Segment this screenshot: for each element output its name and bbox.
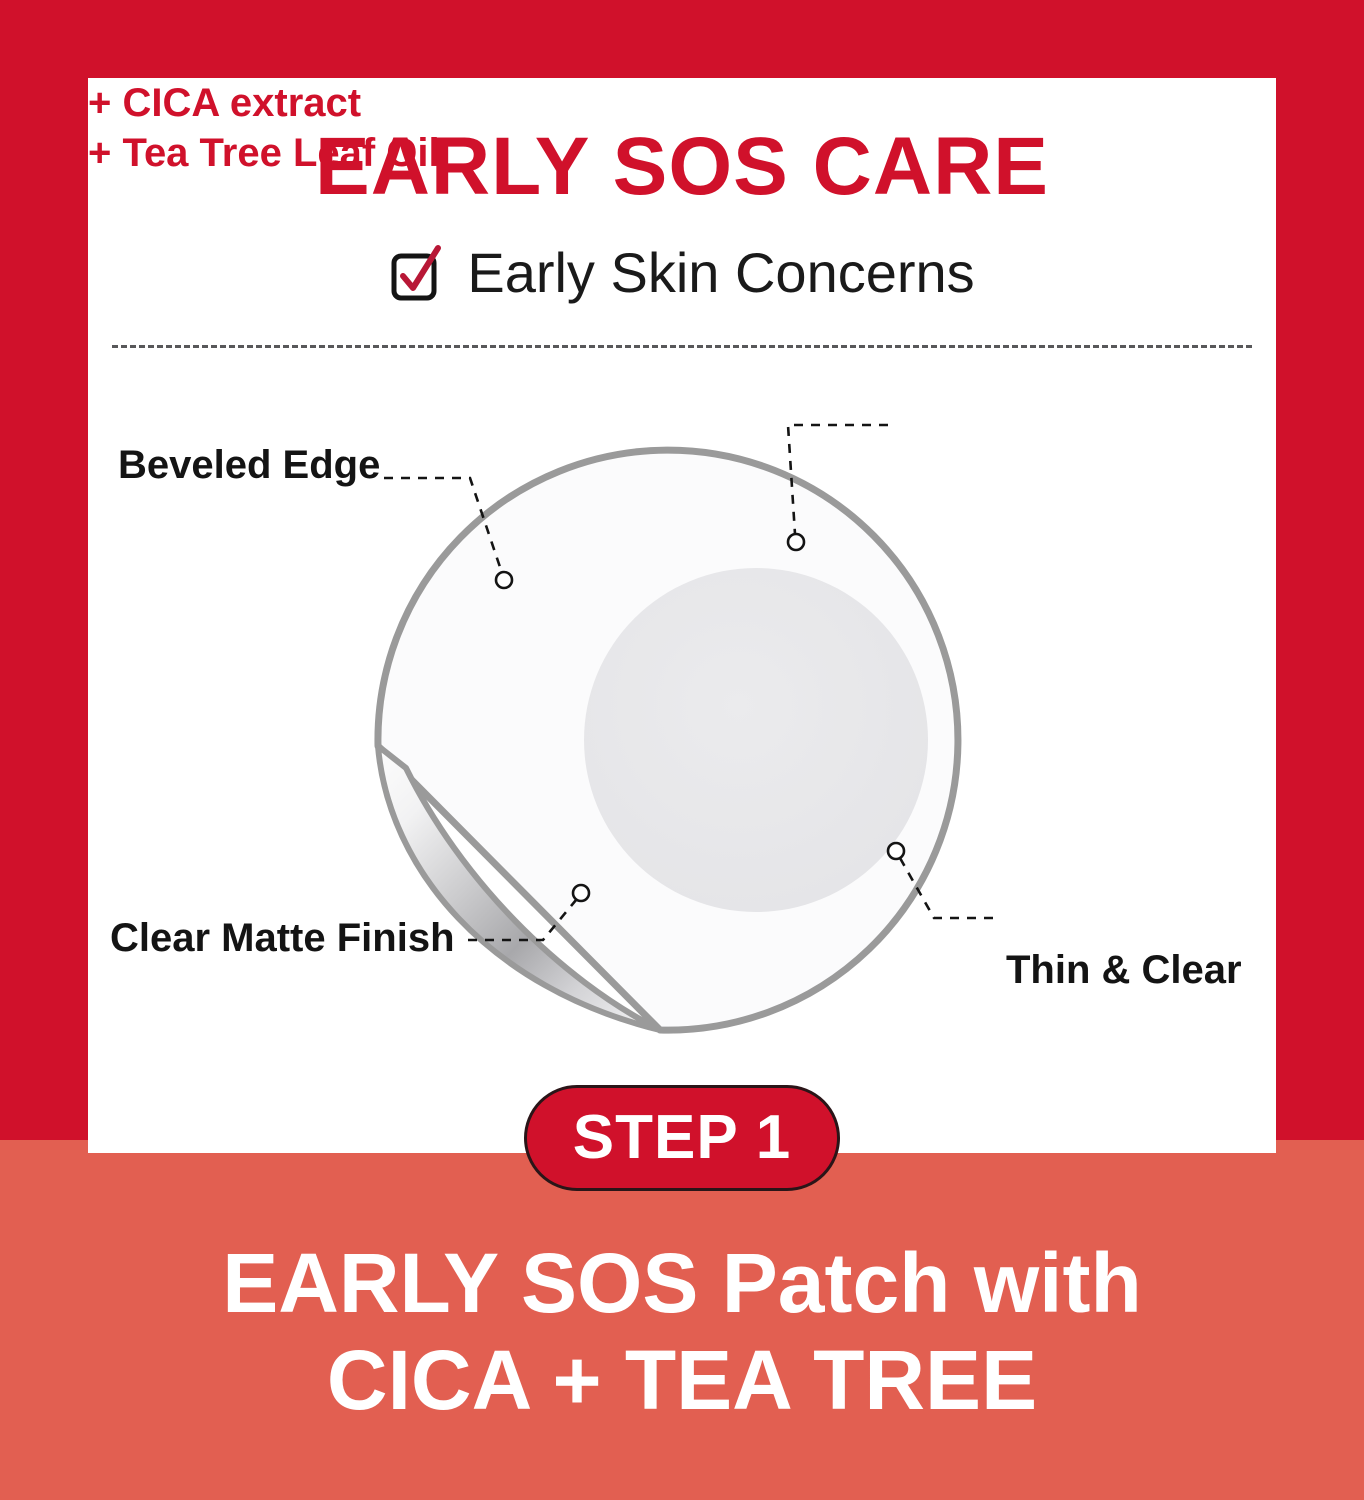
callout-label-beveled-edge: Beveled Edge (118, 443, 380, 488)
patch-inner-matte-circle (584, 568, 928, 912)
leader-dot-actives (788, 534, 804, 550)
leader-dot-clear-matte (573, 885, 589, 901)
banner-line-1: EARLY SOS Patch with (0, 1235, 1364, 1332)
product-name-banner: EARLY SOS Patch with CICA + TEA TREE (0, 1235, 1364, 1430)
step-badge-label: STEP 1 (573, 1107, 792, 1169)
leader-dot-thin-clear (888, 843, 904, 859)
step-badge: STEP 1 (524, 1085, 840, 1191)
white-content-panel: EARLY SOS CARE Early Skin Concerns (88, 78, 1276, 1153)
callout-label-thin-and-clear: Thin & Clear (1006, 948, 1242, 993)
callout-label-clear-matte-finish: Clear Matte Finish (110, 916, 455, 961)
leader-dot-beveled-edge (496, 572, 512, 588)
banner-line-2: CICA + TEA TREE (0, 1332, 1364, 1429)
product-infographic-poster: EARLY SOS CARE Early Skin Concerns (0, 0, 1364, 1500)
